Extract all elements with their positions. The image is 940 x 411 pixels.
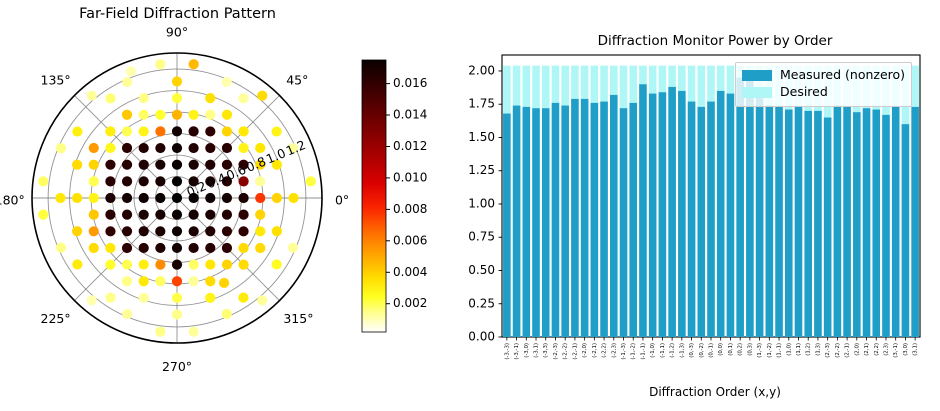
matplotlib-figure: Far-Field Diffraction Pattern 0°45°90°13…	[0, 0, 940, 411]
svg-text:(2,-3): (2,-3)	[825, 343, 831, 358]
svg-text:(0,1): (0,1)	[728, 343, 734, 356]
svg-text:(-1,-3): (-1,-3)	[621, 343, 627, 360]
svg-text:(-2,-3): (-2,-3)	[553, 343, 559, 360]
svg-text:(1,-1): (1,-1)	[777, 343, 783, 358]
svg-text:225°: 225°	[41, 311, 71, 326]
svg-text:(0,-1): (0,-1)	[709, 343, 715, 358]
svg-text:(1,2): (1,2)	[806, 343, 812, 356]
svg-text:45°: 45°	[286, 72, 308, 87]
svg-text:0.002: 0.002	[393, 296, 427, 310]
svg-text:1.50: 1.50	[468, 130, 495, 144]
bars-measured-series	[503, 74, 919, 337]
svg-text:0.010: 0.010	[393, 170, 427, 184]
bar-chart-legend[interactable]: Measured (nonzero) Desired	[735, 62, 912, 107]
svg-text:2.00: 2.00	[468, 63, 495, 77]
svg-text:(-3,-1): (-3,-1)	[514, 343, 520, 360]
svg-text:(1,-2): (1,-2)	[767, 343, 773, 358]
bar-x-tick-labels: (-3,-3)(-3,-1)(-3,0)(-3,1)(-3,3)(-2,-3)(…	[504, 343, 918, 360]
svg-text:(-3,-3): (-3,-3)	[504, 343, 510, 360]
legend-label-desired: Desired	[780, 86, 828, 99]
svg-text:(-1,3): (-1,3)	[679, 343, 685, 358]
colorbar-gradient	[362, 60, 386, 332]
svg-text:(-2,0): (-2,0)	[582, 343, 588, 358]
svg-text:1.25: 1.25	[468, 163, 495, 177]
svg-text:(0,3): (0,3)	[747, 343, 753, 356]
svg-text:(-3,1): (-3,1)	[534, 343, 540, 358]
svg-text:1.2: 1.2	[284, 137, 308, 158]
svg-text:0°: 0°	[335, 193, 349, 208]
colorbar-panel: 0.0020.0040.0060.0080.0100.0120.0140.016	[358, 0, 453, 411]
svg-text:0.016: 0.016	[393, 76, 427, 90]
svg-text:(1,3): (1,3)	[815, 343, 821, 356]
svg-text:0.50: 0.50	[468, 263, 495, 277]
svg-text:315°: 315°	[283, 311, 313, 326]
svg-text:(1,0): (1,0)	[786, 343, 792, 356]
svg-text:0.012: 0.012	[393, 139, 427, 153]
svg-text:(-1,2): (-1,2)	[670, 343, 676, 358]
svg-text:(-1,-1): (-1,-1)	[640, 343, 646, 360]
legend-swatch-desired	[742, 87, 772, 98]
svg-text:0.25: 0.25	[468, 296, 495, 310]
svg-text:0.014: 0.014	[393, 108, 427, 122]
legend-swatch-measured	[742, 70, 772, 81]
svg-text:180°: 180°	[0, 193, 25, 208]
svg-text:1.75: 1.75	[468, 97, 495, 111]
colorbar-axes: 0.0020.0040.0060.0080.0100.0120.0140.016	[358, 0, 453, 411]
svg-text:1.00: 1.00	[468, 196, 495, 210]
polar-axes: 0°45°90°135°180°225°270°315° 0.20.40.60.…	[0, 26, 355, 396]
polar-plot-title: Far-Field Diffraction Pattern	[0, 6, 355, 22]
legend-entry-measured: Measured (nonzero)	[742, 67, 905, 84]
svg-text:0.75: 0.75	[468, 230, 495, 244]
bar-y-tick-labels: 0.000.250.500.751.001.251.501.752.00	[468, 63, 495, 343]
svg-text:0.006: 0.006	[393, 233, 427, 247]
svg-text:0.00: 0.00	[468, 330, 495, 344]
bar-chart-panel: Diffraction Monitor Power by Order 0.000…	[440, 0, 940, 411]
svg-text:(3,1): (3,1)	[913, 343, 919, 356]
svg-text:(1,1): (1,1)	[796, 343, 802, 356]
svg-text:(-2,-1): (-2,-1)	[572, 343, 578, 360]
svg-text:(2,0): (2,0)	[854, 343, 860, 356]
colorbar-tick-labels: 0.0020.0040.0060.0080.0100.0120.0140.016	[386, 76, 427, 310]
svg-text:(-1,0): (-1,0)	[650, 343, 656, 358]
bar-chart-xlabel: Diffraction Order (x,y)	[500, 385, 930, 399]
svg-text:(-2,-2): (-2,-2)	[563, 343, 569, 360]
svg-text:(2,2): (2,2)	[874, 343, 880, 356]
legend-label-measured: Measured (nonzero)	[780, 69, 905, 82]
svg-text:(-3,3): (-3,3)	[543, 343, 549, 358]
svg-text:(2,1): (2,1)	[864, 343, 870, 356]
svg-text:(-2,3): (-2,3)	[611, 343, 617, 358]
svg-text:0.008: 0.008	[393, 202, 427, 216]
svg-text:(0,0): (0,0)	[718, 343, 724, 356]
svg-text:270°: 270°	[162, 359, 192, 374]
svg-text:135°: 135°	[41, 72, 71, 87]
svg-text:(0,-2): (0,-2)	[699, 343, 705, 358]
svg-text:(-2,2): (-2,2)	[602, 343, 608, 358]
svg-text:(3,0): (3,0)	[903, 343, 909, 356]
svg-text:90°: 90°	[166, 26, 188, 40]
svg-text:(-3,0): (-3,0)	[524, 343, 530, 358]
svg-text:(-2,1): (-2,1)	[592, 343, 598, 358]
svg-text:(2,-1): (2,-1)	[845, 343, 851, 358]
svg-text:(-1,1): (-1,1)	[660, 343, 666, 358]
polar-plot-panel: Far-Field Diffraction Pattern 0°45°90°13…	[0, 0, 355, 411]
svg-text:(-1,-2): (-1,-2)	[631, 343, 637, 360]
svg-text:0.004: 0.004	[393, 265, 427, 279]
svg-text:(2,-2): (2,-2)	[835, 343, 841, 358]
svg-text:(1,-3): (1,-3)	[757, 343, 763, 358]
svg-text:(3,-1): (3,-1)	[893, 343, 899, 358]
svg-text:(0,-3): (0,-3)	[689, 343, 695, 358]
svg-text:(2,3): (2,3)	[883, 343, 889, 356]
svg-text:(0,2): (0,2)	[738, 343, 744, 356]
legend-entry-desired: Desired	[742, 84, 905, 101]
